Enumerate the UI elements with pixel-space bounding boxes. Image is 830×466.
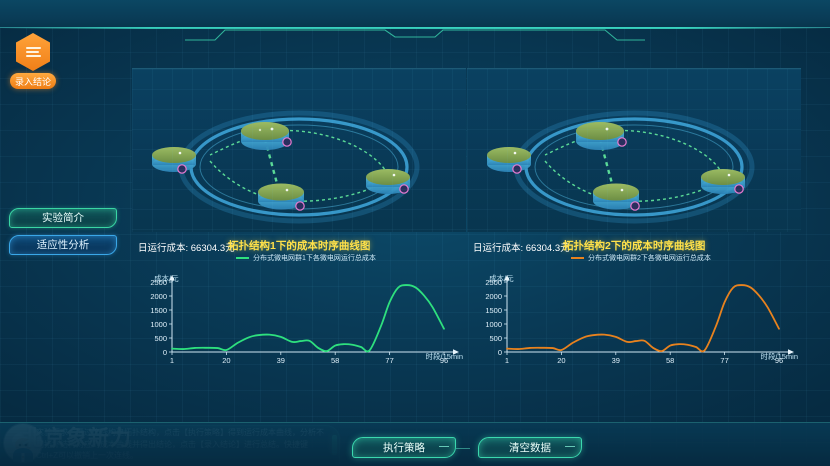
chart-header-1: 日运行成本: 66304.3元 拓扑结构1下的成本时序曲线图 分布式微电网群1下… (132, 232, 466, 272)
svg-text:0: 0 (498, 348, 502, 357)
enter-conclusion-button[interactable]: 录入结论 (10, 33, 56, 89)
chart-legend-2: 分布式微电网群2下各微电网运行总成本 (571, 253, 711, 263)
enter-conclusion-label: 录入结论 (10, 73, 56, 89)
svg-text:0: 0 (163, 348, 167, 357)
svg-text:58: 58 (331, 356, 339, 365)
svg-text:39: 39 (277, 356, 285, 365)
svg-text:58: 58 (666, 356, 674, 365)
app-root: 环节三 · 微电网群分布式优化调度实验 问题与模型认知 调度策略设计 通信拓扑适… (0, 0, 830, 466)
header-swoosh-decoration (185, 28, 645, 42)
svg-text:2000: 2000 (150, 292, 167, 301)
chart-title-1: 拓扑结构1下的成本时序曲线图 (228, 238, 370, 253)
svg-text:1500: 1500 (485, 306, 502, 315)
panel-topology-1: 日运行成本: 66304.3元 拓扑结构1下的成本时序曲线图 分布式微电网群1下… (132, 68, 466, 374)
svg-text:500: 500 (489, 334, 502, 343)
cost-chart-1: 成本/元 时段/15min 05001000150020002500120395… (132, 272, 466, 374)
svg-text:20: 20 (222, 356, 230, 365)
chart-legend-1: 分布式微电网群1下各微电网运行总成本 (236, 253, 376, 263)
svg-text:1: 1 (505, 356, 509, 365)
topology-diagram-2[interactable] (467, 68, 801, 232)
svg-text:77: 77 (720, 356, 728, 365)
top-bar (0, 0, 830, 28)
svg-text:2000: 2000 (485, 292, 502, 301)
cost-chart-2: 成本/元 时段/15min 05001000150020002500120395… (467, 272, 801, 374)
svg-text:1: 1 (170, 356, 174, 365)
chart-title-2: 拓扑结构2下的成本时序曲线图 (563, 238, 705, 253)
action-button-group: 执行策略 清空数据 (352, 437, 582, 458)
sidebar-item-experiment-intro[interactable]: 实验简介 (9, 208, 117, 228)
day-cost-label-2: 日运行成本: 66304.3元 (473, 240, 570, 254)
execute-strategy-button[interactable]: 执行策略 (352, 437, 456, 458)
sidebar-menu: 实验简介 适应性分析 (9, 208, 117, 262)
svg-text:1000: 1000 (485, 320, 502, 329)
svg-text:39: 39 (612, 356, 620, 365)
list-hexagon-icon (16, 33, 50, 71)
svg-text:1500: 1500 (150, 306, 167, 315)
svg-text:96: 96 (440, 356, 448, 365)
sidebar-item-adaptability-analysis[interactable]: 适应性分析 (9, 235, 117, 255)
svg-text:77: 77 (385, 356, 393, 365)
top-bar-glow (0, 27, 830, 29)
svg-text:20: 20 (557, 356, 565, 365)
topology-diagram-1[interactable] (132, 68, 466, 232)
legend-swatch-1 (236, 257, 249, 259)
panel-topology-2: 日运行成本: 66304.3元 拓扑结构2下的成本时序曲线图 分布式微电网群2下… (467, 68, 801, 374)
svg-text:96: 96 (775, 356, 783, 365)
legend-swatch-2 (571, 257, 584, 259)
svg-text:2500: 2500 (485, 278, 502, 287)
clear-data-button[interactable]: 清空数据 (478, 437, 582, 458)
legend-label-2: 分布式微电网群2下各微电网运行总成本 (588, 253, 711, 263)
legend-label-1: 分布式微电网群1下各微电网运行总成本 (253, 253, 376, 263)
svg-text:2500: 2500 (150, 278, 167, 287)
chart-header-2: 日运行成本: 66304.3元 拓扑结构2下的成本时序曲线图 分布式微电网群2下… (467, 232, 801, 272)
svg-text:500: 500 (154, 334, 167, 343)
svg-text:1000: 1000 (150, 320, 167, 329)
day-cost-label-1: 日运行成本: 66304.3元 (138, 240, 235, 254)
